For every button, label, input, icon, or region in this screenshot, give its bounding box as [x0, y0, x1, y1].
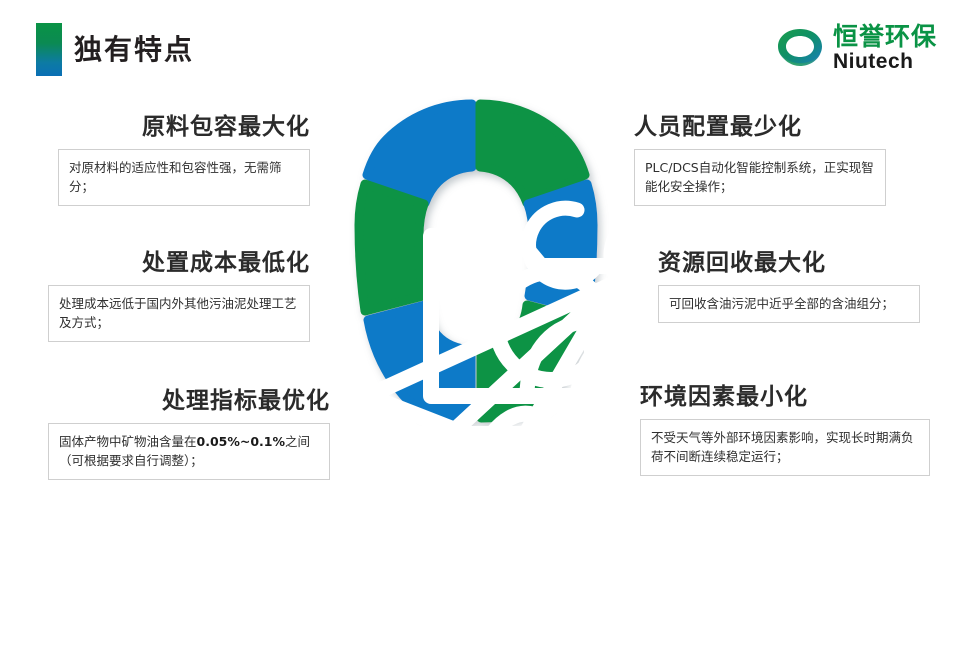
feature-body: 固体产物中矿物油含量在0.05%~0.1%之间（可根据要求自行调整）； [48, 423, 330, 480]
company-logo: 恒誉环保 Niutech [775, 22, 937, 74]
feature-title: 资源回收最大化 [658, 248, 920, 278]
feature-staff-minimization: 人员配置最少化 PLC/DCS自动化智能控制系统，正实现智能化安全操作； [634, 112, 886, 206]
feature-body: 可回收含油污泥中近乎全部的含油组分； [658, 285, 920, 323]
feature-title: 环境因素最小化 [640, 382, 930, 412]
page-header: 独有特点 恒誉环保 [0, 0, 955, 92]
page-title: 独有特点 [74, 30, 194, 70]
feature-environment-minimization: 环境因素最小化 不受天气等外部环境因素影响，实现长时期满负荷不间断连续稳定运行； [640, 382, 930, 476]
feature-title: 处置成本最低化 [48, 248, 310, 278]
feature-cost-minimization: 处置成本最低化 处理成本远低于国内外其他污油泥处理工艺及方式； [48, 248, 310, 342]
feature-body: 不受天气等外部环境因素影响，实现长时期满负荷不间断连续稳定运行； [640, 419, 930, 476]
niutech-ring-logo-icon [775, 25, 825, 71]
six-segment-donut-diagram [315, 96, 635, 426]
feature-body-prefix: 固体产物中矿物油含量在 [59, 434, 197, 449]
feature-body: 对原材料的适应性和包容性强，无需筛分； [58, 149, 310, 206]
donut-segment-right[interactable] [528, 184, 593, 311]
feature-material-tolerance: 原料包容最大化 对原材料的适应性和包容性强，无需筛分； [58, 112, 310, 206]
feature-title: 处理指标最优化 [48, 386, 330, 416]
donut-segment-bottom-left[interactable] [368, 305, 471, 418]
donut-segment-bottom-right[interactable] [481, 305, 584, 418]
feature-body: 处理成本远低于国内外其他污油泥处理工艺及方式； [48, 285, 310, 342]
logo-text: 恒誉环保 Niutech [833, 24, 937, 72]
logo-english-name: Niutech [833, 51, 937, 72]
feature-title: 人员配置最少化 [634, 112, 886, 142]
donut-segment-left[interactable] [359, 184, 424, 311]
feature-index-optimization: 处理指标最优化 固体产物中矿物油含量在0.05%~0.1%之间（可根据要求自行调… [48, 386, 330, 480]
feature-title: 原料包容最大化 [58, 112, 310, 142]
feature-resource-recycling: 资源回收最大化 可回收含油污泥中近乎全部的含油组分； [658, 248, 920, 323]
feature-body: PLC/DCS自动化智能控制系统，正实现智能化安全操作； [634, 149, 886, 206]
logo-chinese-name: 恒誉环保 [833, 24, 937, 49]
title-accent-bar [36, 23, 62, 76]
feature-body-highlight: 0.05%~0.1% [197, 434, 286, 449]
